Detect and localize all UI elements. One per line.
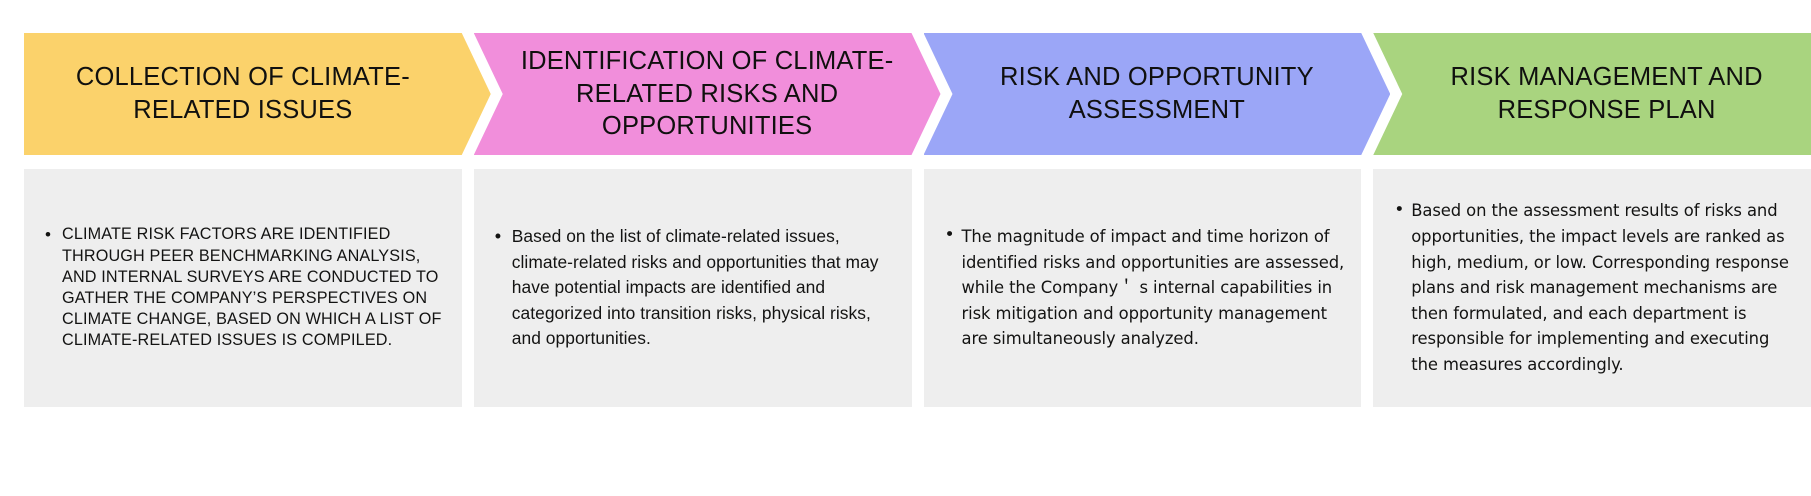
description-list-step-3: The magnitude of impact and time horizon… [924,224,1362,352]
description-text-step-1: CLIMATE RISK FACTORS ARE IDENTIFIED THRO… [62,224,448,351]
chevron-step-3[interactable]: RISK AND OPPORTUNITY ASSESSMENT [924,33,1391,155]
description-text-step-3: The magnitude of impact and time horizon… [962,224,1348,352]
chevron-header-band: COLLECTION OF CLIMATE-RELATED ISSUES IDE… [24,33,1811,155]
description-box-step-3: The magnitude of impact and time horizon… [924,169,1362,407]
chevron-step-1-label: COLLECTION OF CLIMATE-RELATED ISSUES [10,61,477,126]
description-list-step-1: CLIMATE RISK FACTORS ARE IDENTIFIED THRO… [24,224,462,351]
description-list-step-4: Based on the assessment results of risks… [1373,198,1811,377]
description-text-step-4: Based on the assessment results of risks… [1411,198,1797,377]
chevron-step-1[interactable]: COLLECTION OF CLIMATE-RELATED ISSUES [24,33,491,155]
description-box-row: CLIMATE RISK FACTORS ARE IDENTIFIED THRO… [24,169,1811,407]
chevron-step-4-label: RISK MANAGEMENT AND RESPONSE PLAN [1373,61,1811,126]
description-list-step-2: Based on the list of climate-related iss… [474,224,912,352]
chevron-step-3-label: RISK AND OPPORTUNITY ASSESSMENT [924,61,1391,126]
description-text-step-2: Based on the list of climate-related iss… [512,224,898,352]
description-box-step-2: Based on the list of climate-related iss… [474,169,912,407]
description-box-step-1: CLIMATE RISK FACTORS ARE IDENTIFIED THRO… [24,169,462,407]
diagram-canvas: COLLECTION OF CLIMATE-RELATED ISSUES IDE… [0,0,1811,496]
chevron-step-2[interactable]: IDENTIFICATION OF CLIMATE-RELATED RISKS … [474,33,941,155]
chevron-step-4[interactable]: RISK MANAGEMENT AND RESPONSE PLAN [1373,33,1811,155]
description-box-step-4: Based on the assessment results of risks… [1373,169,1811,407]
chevron-step-2-label: IDENTIFICATION OF CLIMATE-RELATED RISKS … [474,45,941,143]
